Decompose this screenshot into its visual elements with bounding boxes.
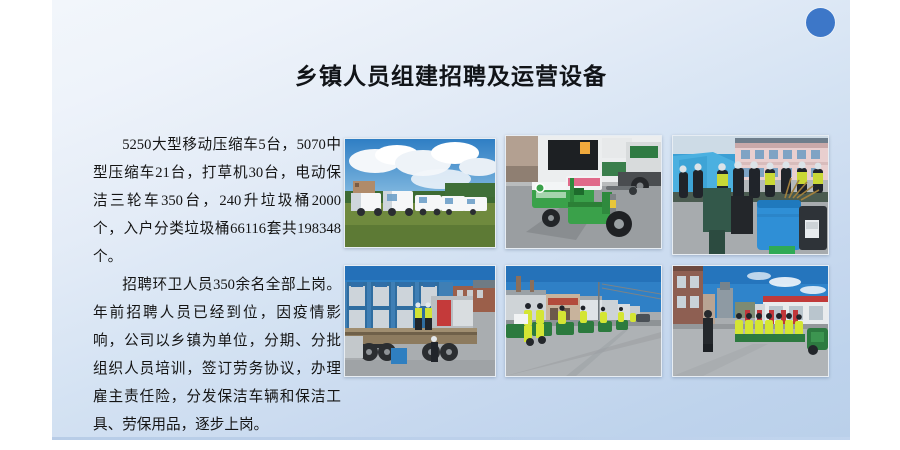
gallery-cell[interactable]: [344, 265, 494, 375]
circle-decoration: [806, 8, 835, 37]
photo-garbage-truck-fleet[interactable]: [344, 138, 496, 248]
photo-workers-assembly[interactable]: [672, 265, 829, 377]
paragraph-equipment: 5250大型移动压缩车5台，5070中型压缩车21台，打草机30台，电动保洁三轮…: [93, 131, 341, 271]
photo-electric-tricycle[interactable]: [505, 135, 662, 249]
body-text-column: 5250大型移动压缩车5台，5070中型压缩车21台，打草机30台，电动保洁三轮…: [93, 131, 341, 439]
page-title: 乡镇人员组建招聘及运营设备: [52, 57, 850, 91]
gallery-cell[interactable]: [505, 135, 660, 247]
photo-gallery: [344, 135, 830, 377]
gallery-row-2: [344, 265, 830, 377]
gallery-cell[interactable]: [672, 265, 827, 375]
gallery-cell[interactable]: [505, 265, 660, 375]
photo-bin-distribution[interactable]: [672, 135, 829, 255]
photo-workers-street-line[interactable]: [505, 265, 662, 377]
gallery-cell[interactable]: [344, 138, 494, 246]
slide-canvas: 乡镇人员组建招聘及运营设备 5250大型移动压缩车5台，5070中型压缩车21台…: [52, 0, 850, 440]
gallery-cell[interactable]: [672, 135, 827, 253]
photo-truck-loaded-bins[interactable]: [344, 265, 496, 377]
gallery-row-1: [344, 135, 830, 247]
paragraph-recruitment: 招聘环卫人员350余名全部上岗。年前招聘人员已经到位，因疫情影响，公司以乡镇为单…: [93, 271, 341, 439]
